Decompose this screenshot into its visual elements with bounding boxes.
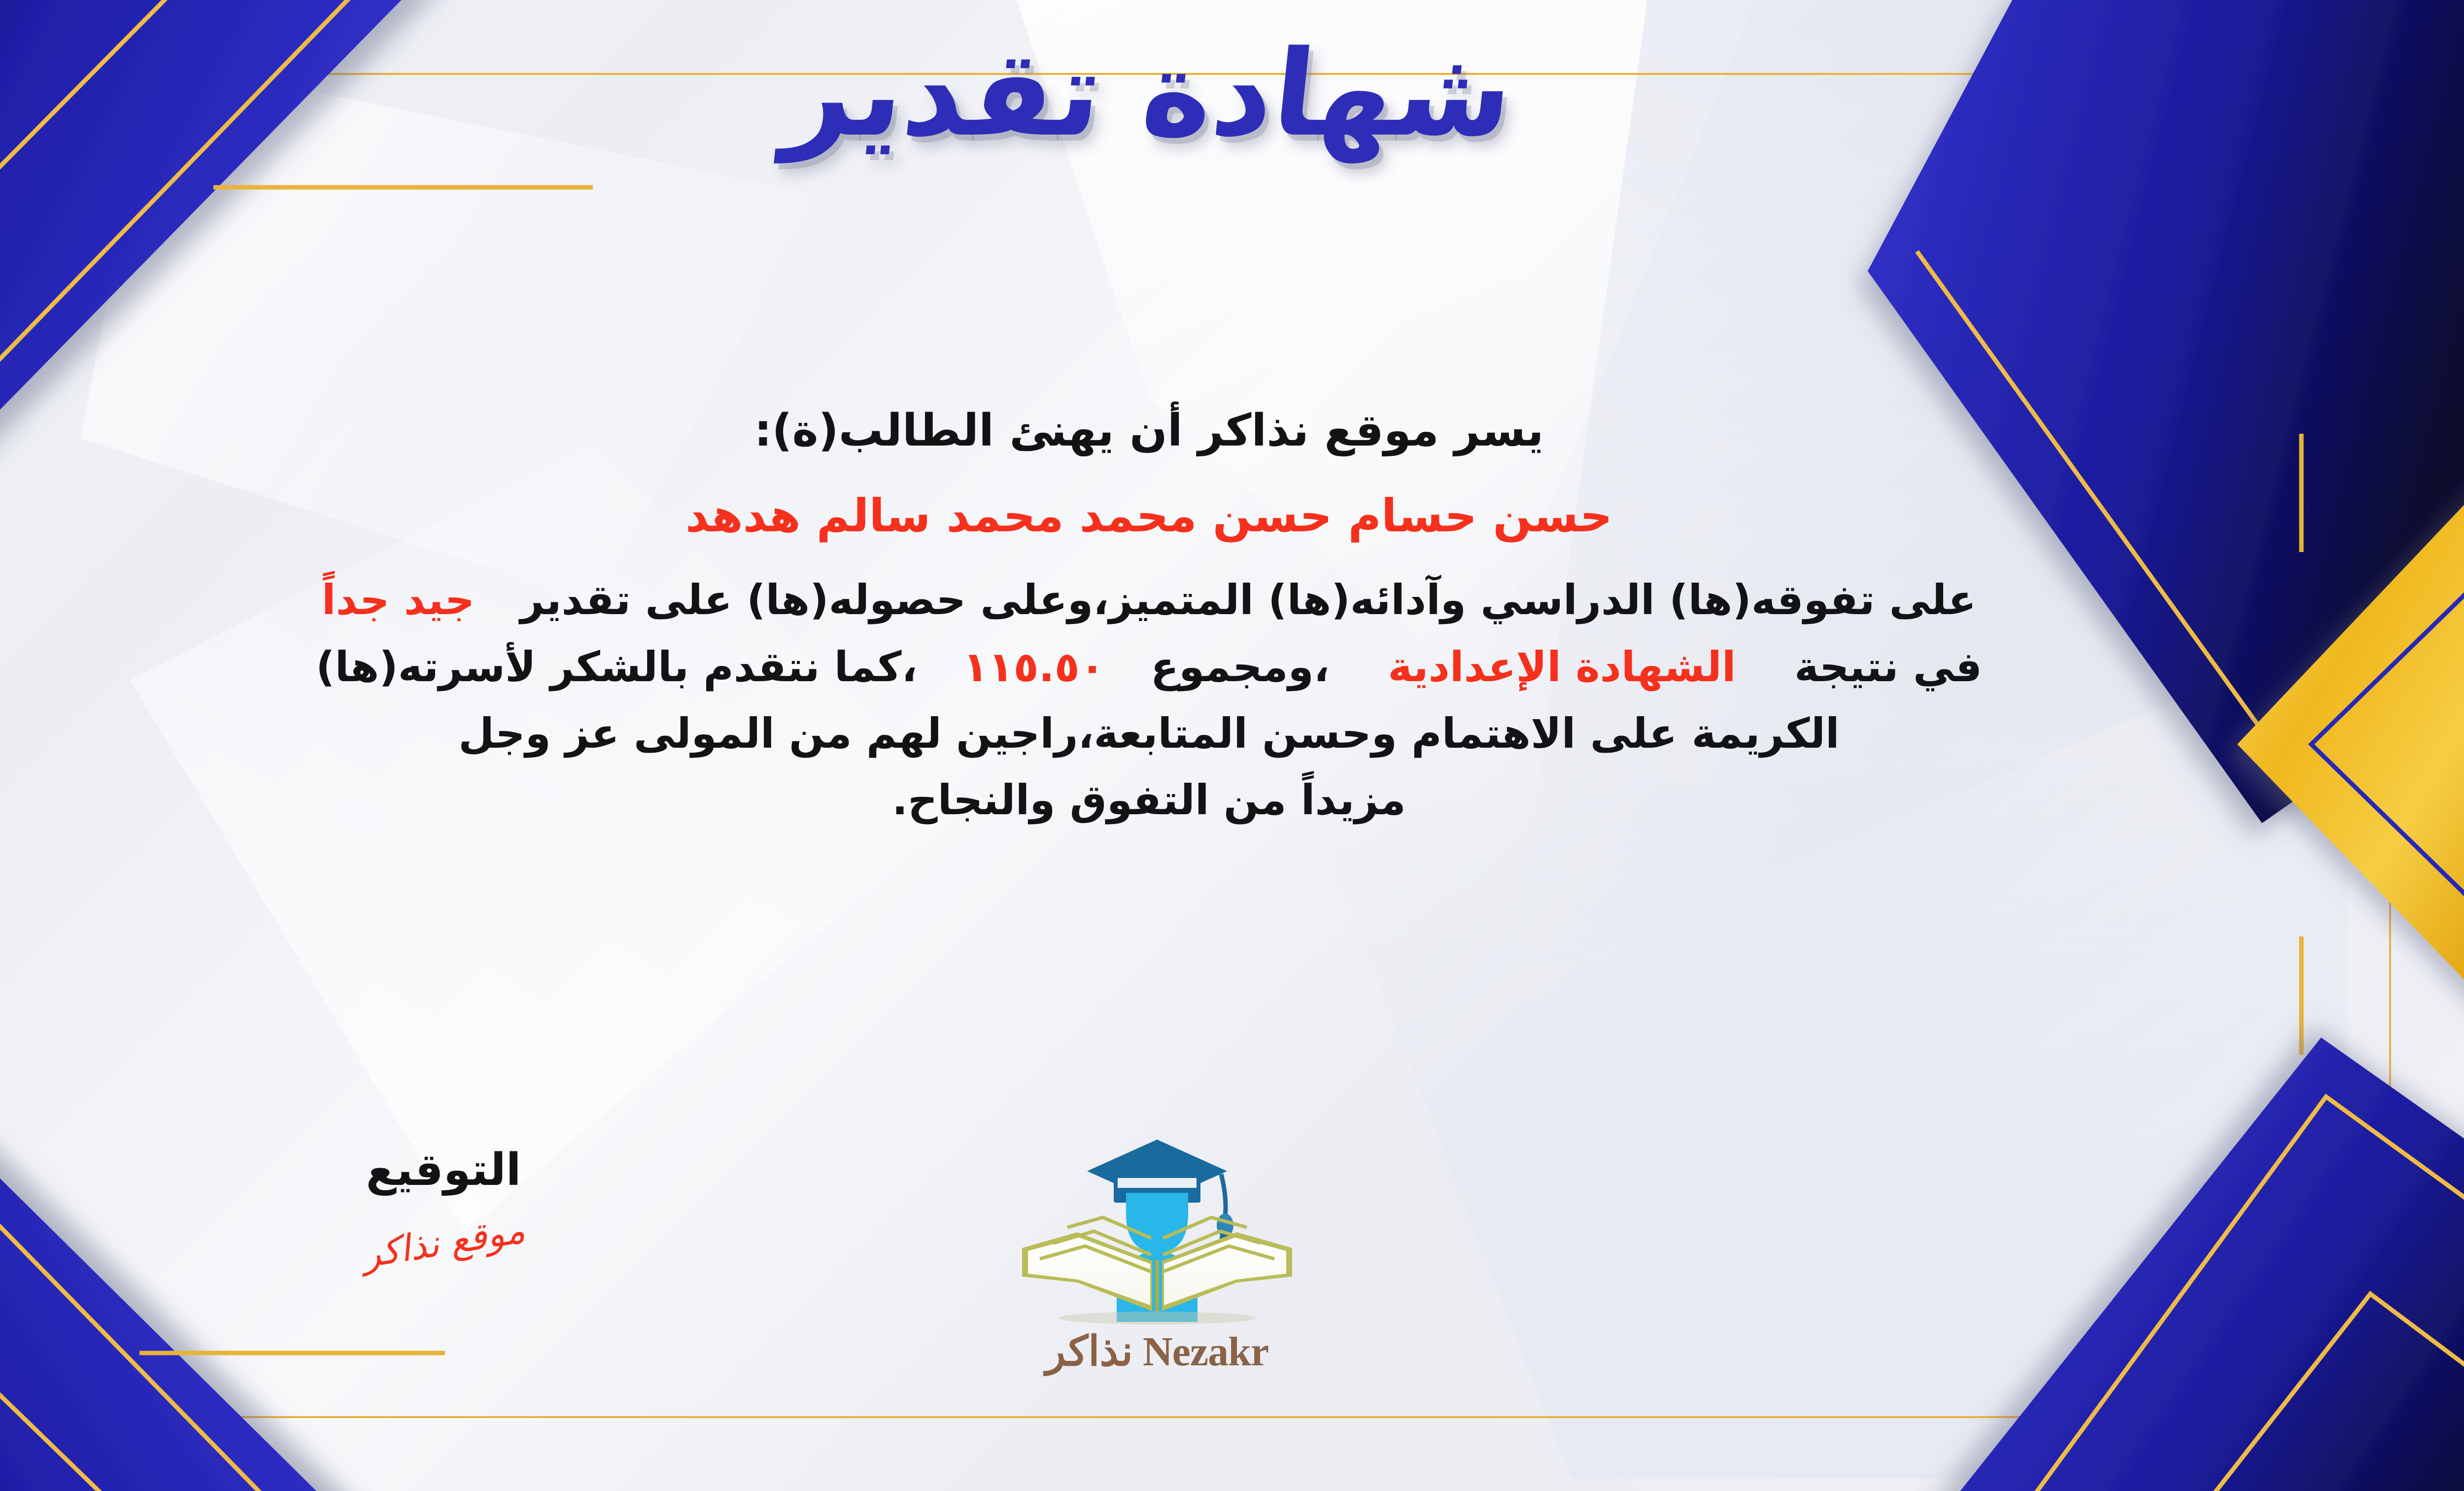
student-name: حسن حسام حسن محمد محمد سالم هدهد [0, 484, 2336, 549]
logo-graphic [1004, 1129, 1310, 1326]
total-label: ،ومجموع [1151, 643, 1330, 691]
certificate-body: يسر موقع نذاكر أن يهنئ الطالب(ة): حسن حس… [0, 399, 2336, 830]
site-logo: Nezakr نذاكر [985, 1129, 1330, 1376]
corner-ornament-bottom-right [1818, 949, 2464, 1491]
result-prefix: في نتيجة [1794, 643, 1982, 691]
signature-label: التوقيع [286, 1144, 601, 1197]
exam-name: الشهادة الإعدادية [1388, 643, 1736, 691]
certificate-title-wrap: شهادة تقدير [0, 20, 2464, 168]
background-facet [1312, 739, 2347, 1479]
certificate-canvas: شهادة تقدير يسر موقع نذاكر أن يهنئ الطال… [0, 0, 2464, 1491]
signature-mark: موقع نذاكر [359, 1209, 528, 1277]
thanks-text: ،كما نتقدم بالشكر لأسرته(ها) [316, 643, 917, 691]
intro-line: يسر موقع نذاكر أن يهنئ الطالب(ة): [0, 399, 2336, 462]
achievement-line: على تفوقه(ها) الدراسي وآدائه(ها) المتميز… [0, 571, 2336, 629]
total-score: ١١٥.٥٠ [963, 643, 1105, 691]
result-line: في نتيجة الشهادة الإعدادية ،ومجموع ١١٥.٥… [0, 638, 2336, 696]
family-thanks-line: الكريمة على الاهتمام وحسن المتابعة،راجين… [0, 704, 2336, 763]
closing-line: مزيداً من التفوق والنجاح. [0, 771, 2336, 830]
signature-block: التوقيع موقع نذاكر [286, 1144, 601, 1264]
grade-value: جيد جداً [322, 576, 475, 624]
certificate-title: شهادة تقدير [778, 20, 1520, 168]
achievement-text: على تفوقه(ها) الدراسي وآدائه(ها) المتميز… [520, 576, 1977, 624]
logo-wordmark: Nezakr نذاكر [985, 1327, 1330, 1376]
graduate-head-icon [1126, 1193, 1188, 1253]
